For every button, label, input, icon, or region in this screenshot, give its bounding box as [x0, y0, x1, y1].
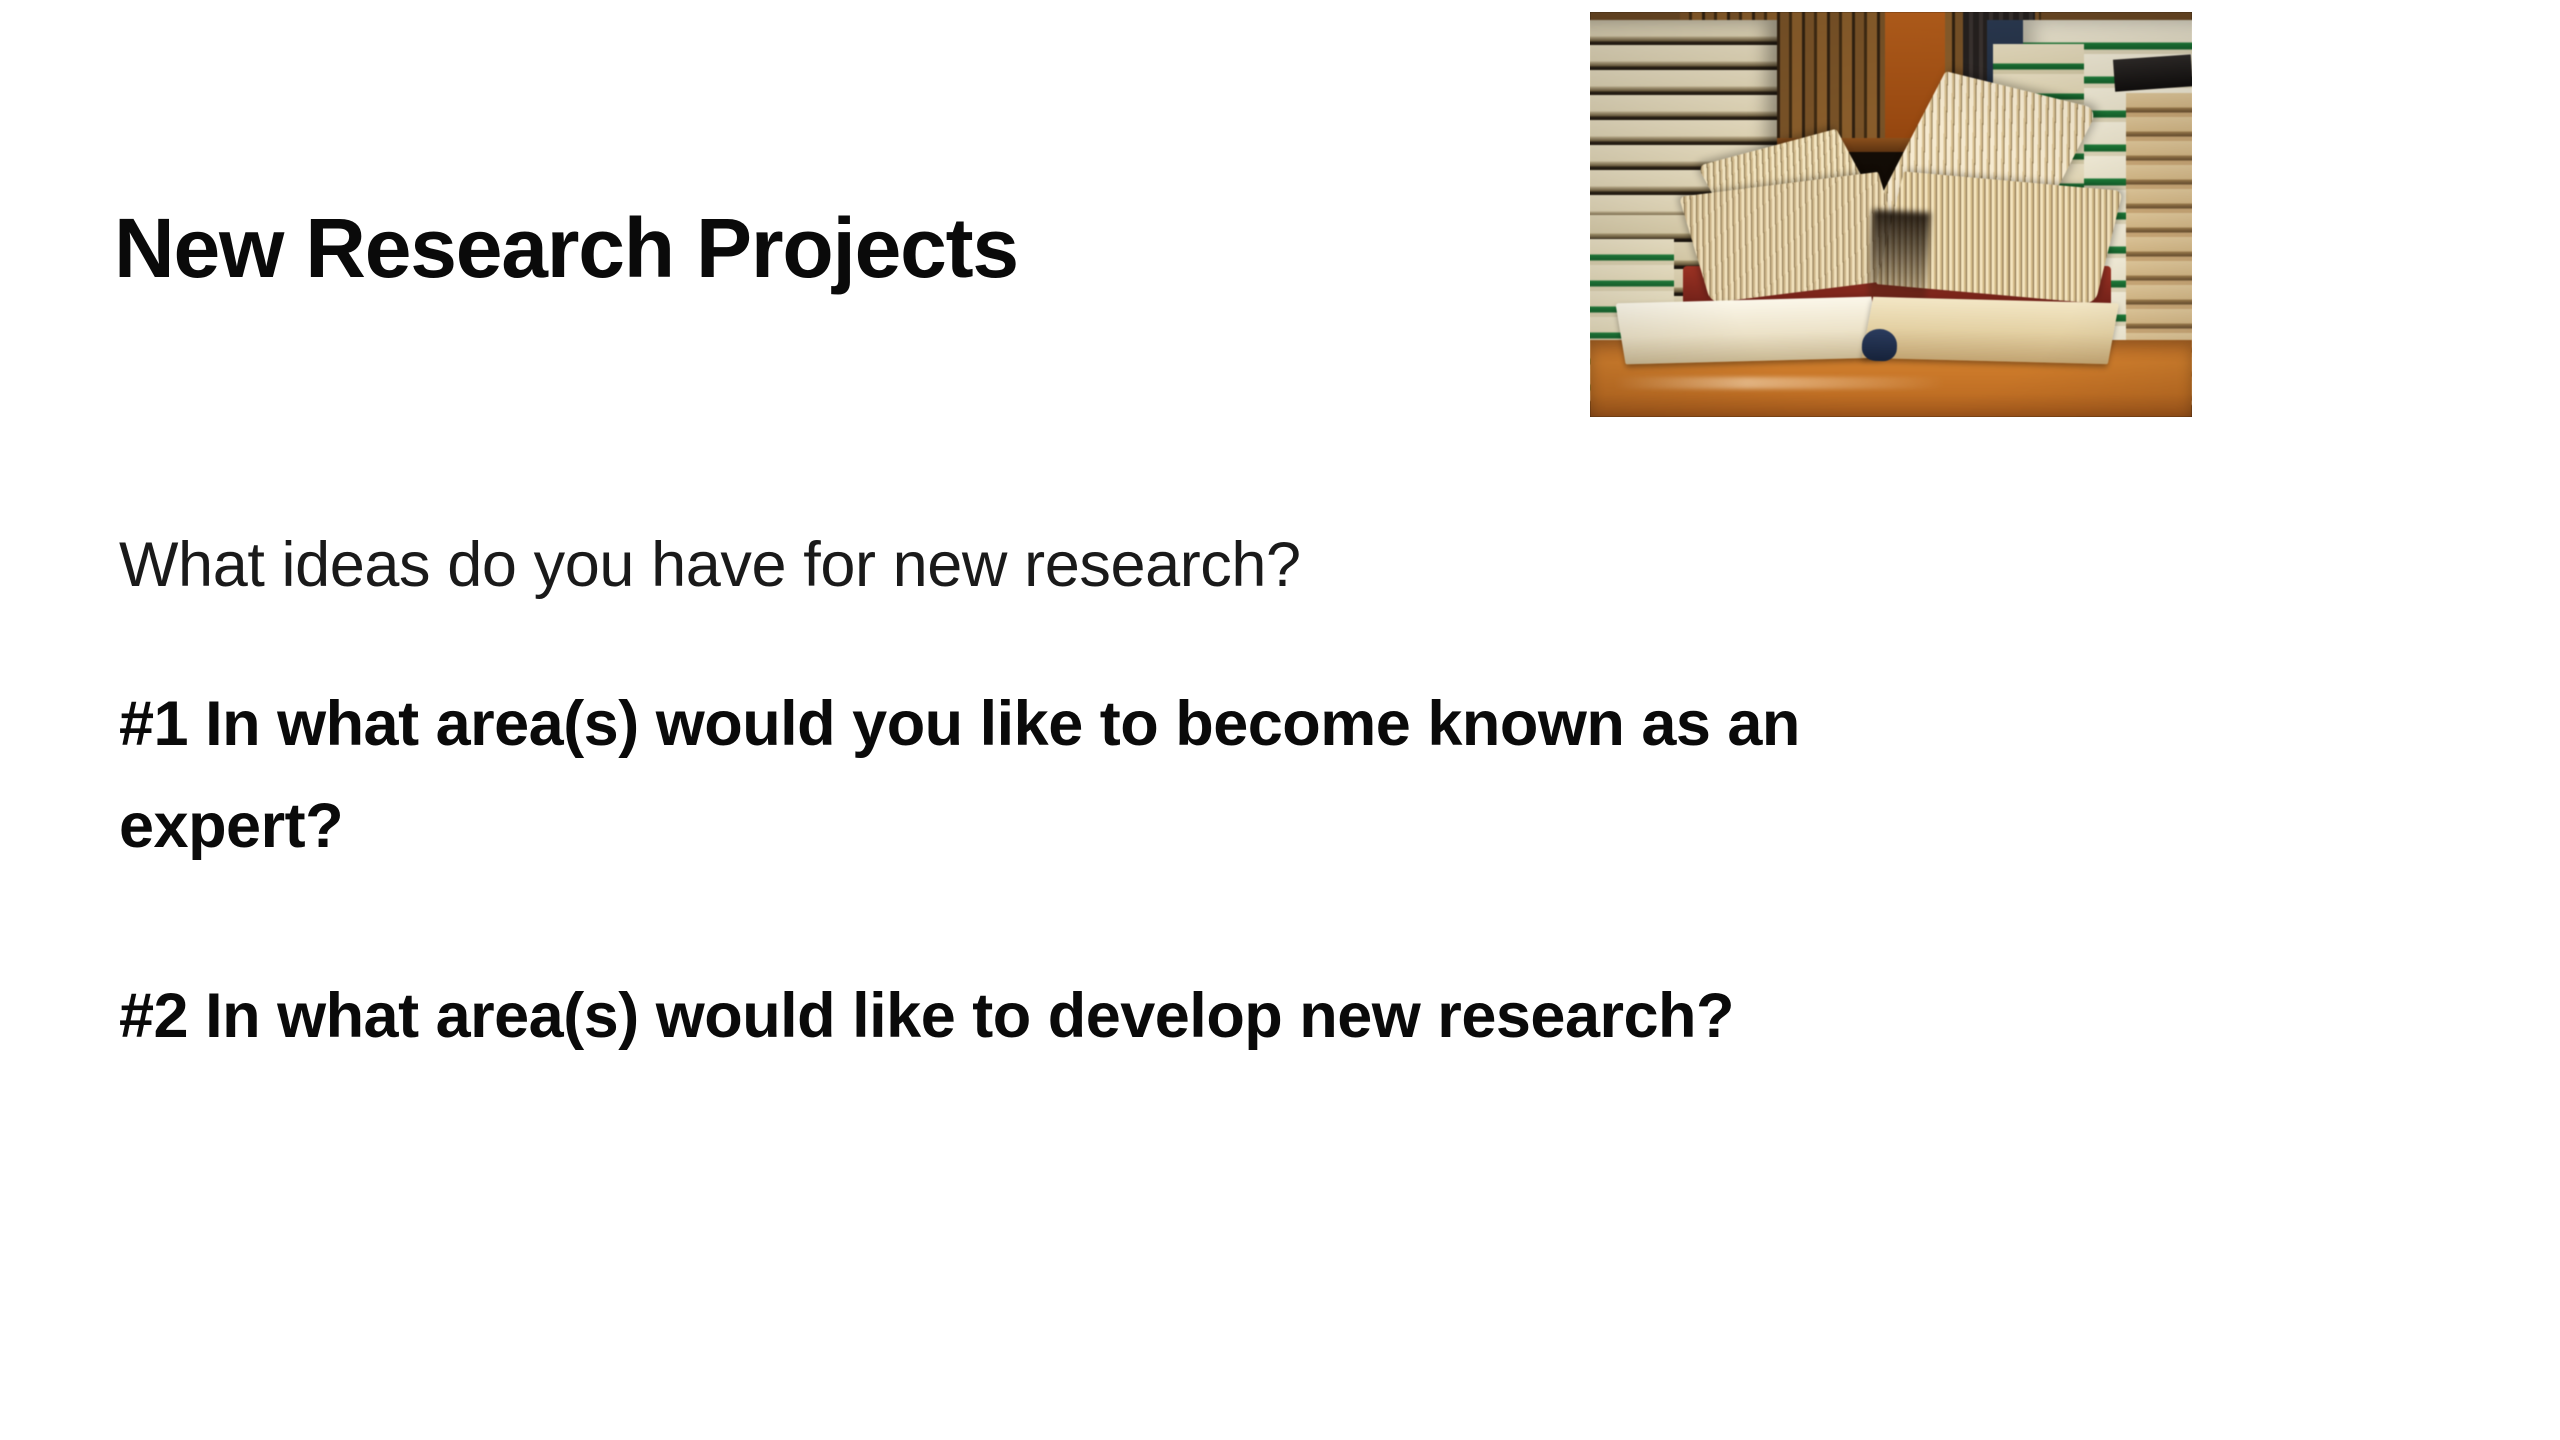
front-book-page-right [1862, 296, 2119, 363]
books-photo-content [1590, 12, 2192, 417]
slide-body: What ideas do you have for new research?… [119, 530, 1929, 1067]
question-2: #2 In what area(s) would like to develop… [119, 965, 1919, 1067]
middle-book-gutter [1868, 210, 1931, 304]
middle-open-book [1674, 170, 2119, 308]
page-title: New Research Projects [114, 204, 1018, 292]
right-dark-book [2113, 54, 2192, 92]
slide-canvas: New Research Projects What ideas do you … [0, 0, 2560, 1440]
front-open-book [1620, 300, 2114, 361]
question-1: #1 In what area(s) would you like to bec… [119, 673, 1919, 877]
front-book-spine [1861, 329, 1897, 362]
books-photo [1590, 12, 2192, 417]
lead-question: What ideas do you have for new research? [119, 530, 1929, 601]
table-reflection [1614, 377, 1945, 389]
front-book-page-left [1616, 296, 1882, 363]
